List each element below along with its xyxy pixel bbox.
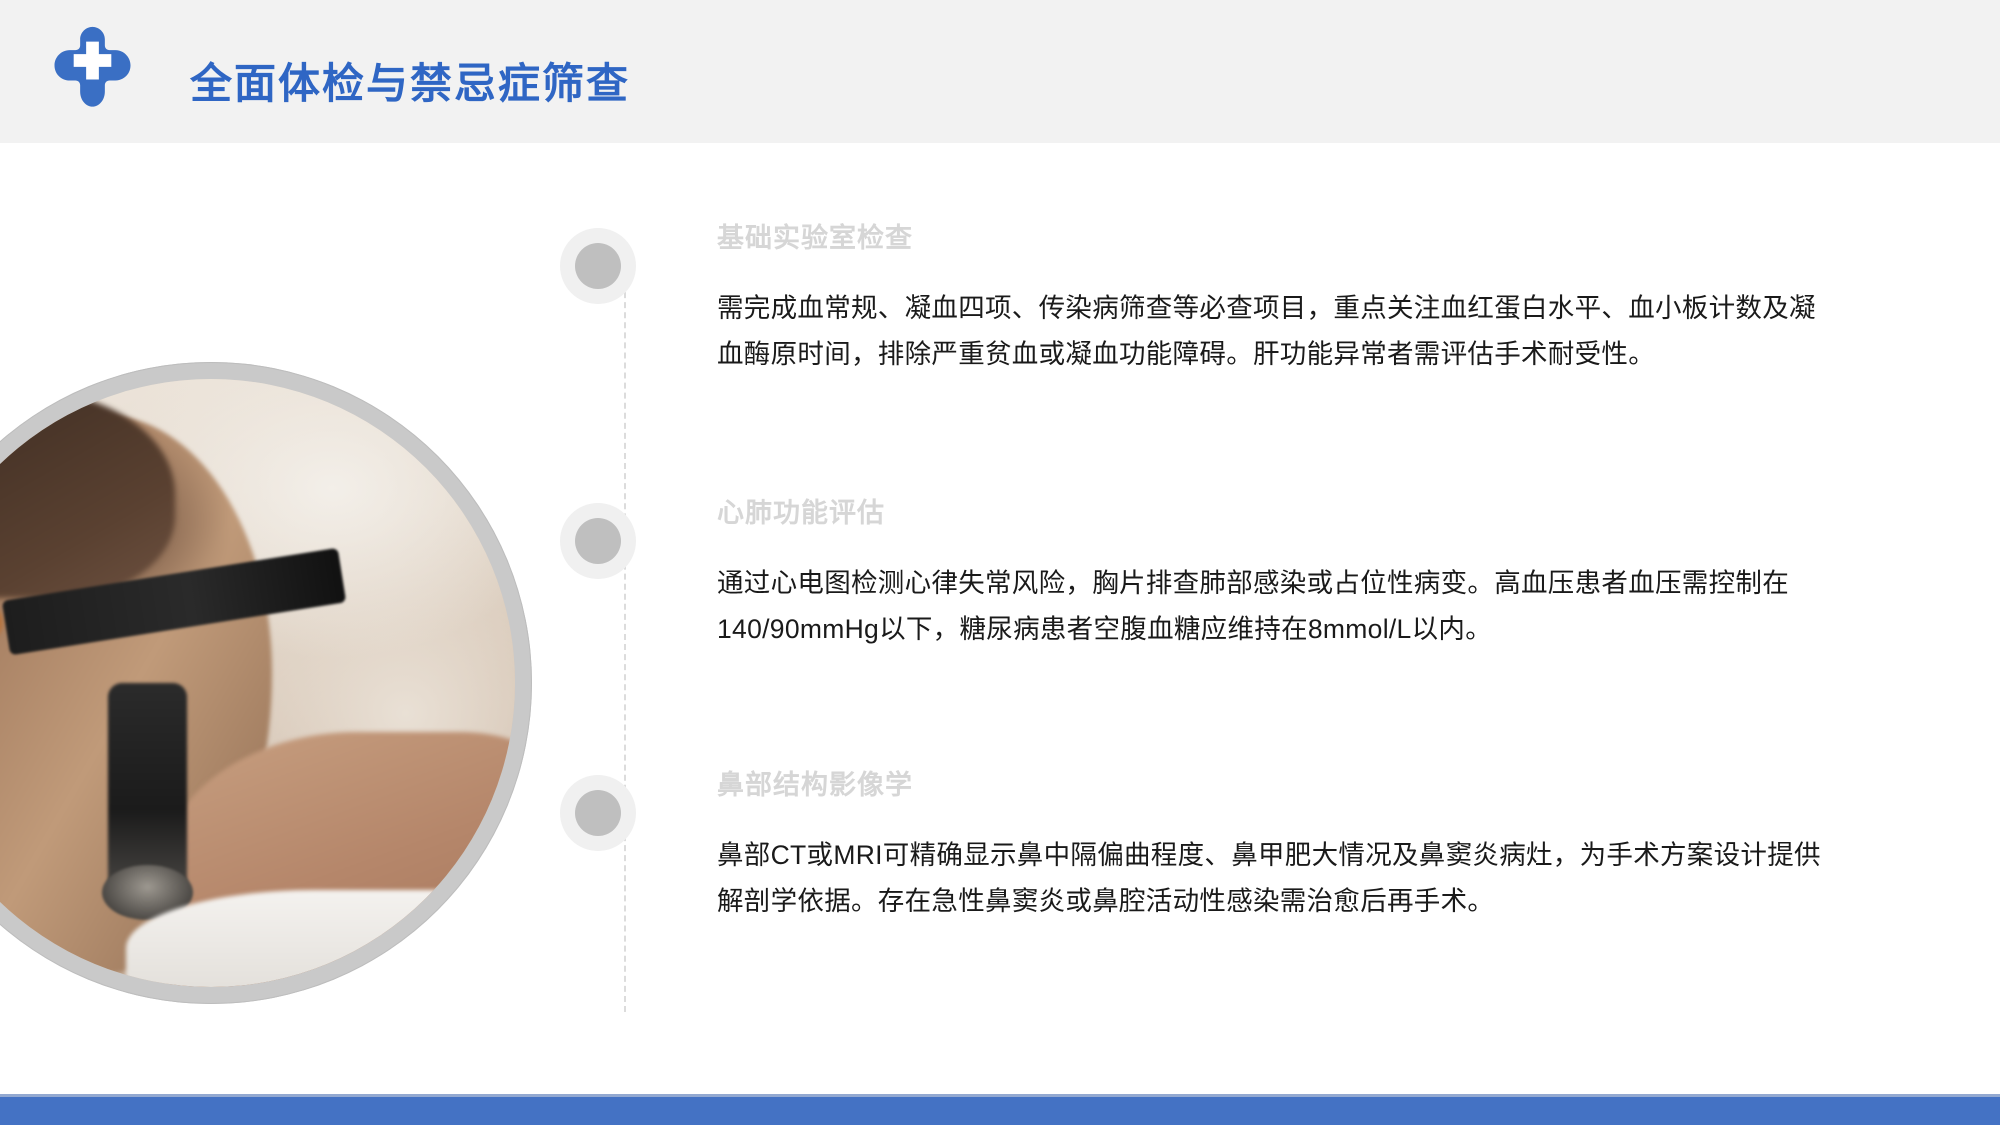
timeline-item-3-title: 鼻部结构影像学 — [717, 763, 1847, 802]
timeline-dot-icon — [560, 503, 636, 579]
footer-accent-bar — [0, 1097, 2000, 1125]
medical-cross-flower-icon — [45, 24, 140, 119]
timeline-item-1-text: 需完成血常规、凝血四项、传染病筛查等必查项目，重点关注血红蛋白水平、血小板计数及… — [717, 285, 1842, 377]
timeline-connector — [624, 272, 626, 1012]
photo-inner — [0, 379, 515, 987]
clinical-examination-photo — [0, 362, 532, 1004]
timeline-item-1-body: 基础实验室检查 需完成血常规、凝血四项、传染病筛查等必查项目，重点关注血红蛋白水… — [717, 216, 1847, 377]
timeline-dot-icon — [560, 228, 636, 304]
page-title: 全面体检与禁忌症筛查 — [190, 50, 630, 111]
timeline-item-2-body: 心肺功能评估 通过心电图检测心律失常风险，胸片排查肺部感染或占位性病变。高血压患… — [717, 491, 1847, 652]
timeline-item-3-body: 鼻部结构影像学 鼻部CT或MRI可精确显示鼻中隔偏曲程度、鼻甲肥大情况及鼻窦炎病… — [717, 763, 1847, 924]
timeline-item-2-title: 心肺功能评估 — [717, 491, 1847, 530]
timeline-item-3-text: 鼻部CT或MRI可精确显示鼻中隔偏曲程度、鼻甲肥大情况及鼻窦炎病灶，为手术方案设… — [717, 832, 1842, 924]
timeline-dot-core — [575, 518, 621, 564]
timeline-item-2-text: 通过心电图检测心律失常风险，胸片排查肺部感染或占位性病变。高血压患者血压需控制在… — [717, 560, 1842, 652]
slide-header: 全面体检与禁忌症筛查 — [0, 0, 2000, 143]
timeline-dot-core — [575, 243, 621, 289]
timeline-dot-core — [575, 790, 621, 836]
timeline-item-1-title: 基础实验室检查 — [717, 216, 1847, 255]
timeline-dot-icon — [560, 775, 636, 851]
